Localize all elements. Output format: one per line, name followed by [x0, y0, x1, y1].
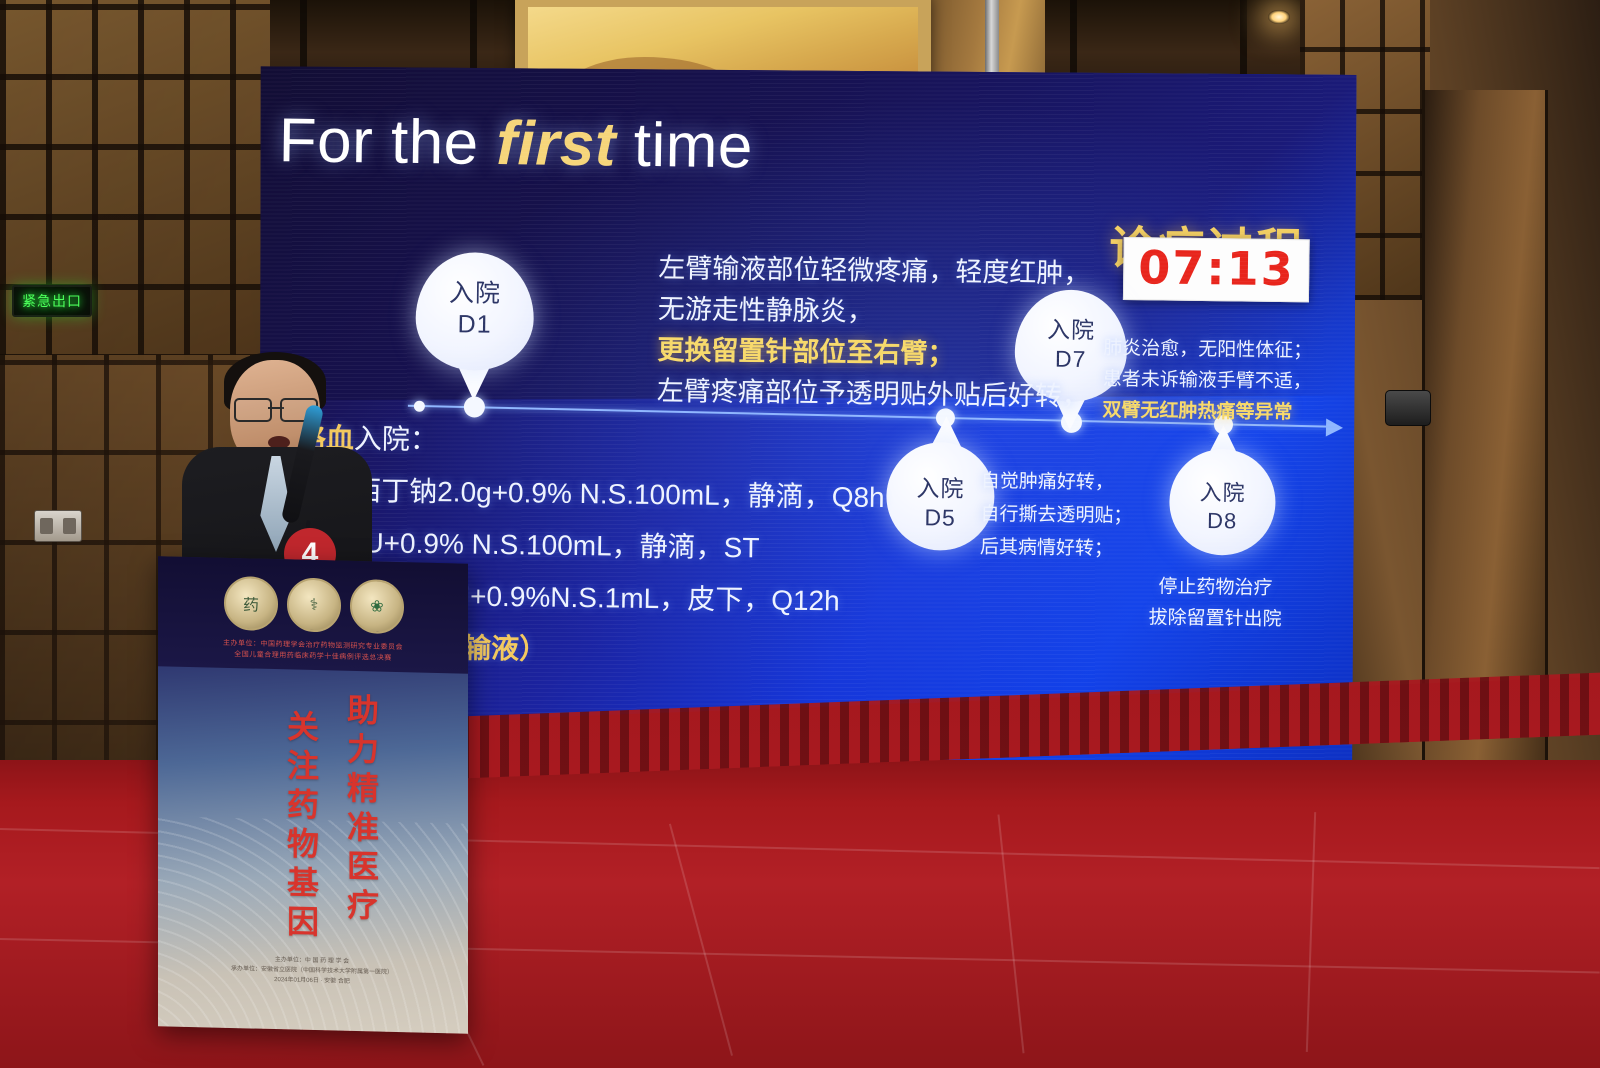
exit-sign-label: 紧急出口: [22, 291, 82, 311]
slide-title: For the first time: [278, 105, 753, 182]
pin-label: 入院 D8: [1169, 479, 1276, 536]
organizer-emblems: 药 ⚕ ❀: [224, 576, 404, 632]
text-line: 拔除留置针出院: [1148, 602, 1281, 635]
timeline-pin-d1: 入院 D1: [415, 252, 535, 404]
pin-name: 入院: [1169, 479, 1275, 508]
text-block-d1: 左臂输液部位轻微疼痛，轻度红肿， 无游走性静脉炎， 更换留置针部位至右臂； 左臂…: [657, 248, 1091, 418]
podium-slogan-right: 助力精准医疗: [336, 693, 384, 928]
emblem-icon: ⚕: [287, 577, 341, 632]
light-switch-plate[interactable]: [34, 510, 82, 542]
text-line: 左臂疼痛部位予透明贴外贴后好转，: [657, 371, 1089, 418]
emergency-exit-sign: 紧急出口: [12, 285, 92, 317]
pin-day: D5: [886, 503, 994, 533]
title-suffix: time: [616, 111, 754, 182]
text-line: 后其病情好转；: [980, 531, 1132, 566]
conference-photo-scene: 紧急出口 ← 出口 For the first time 诊疗过程 07:13 …: [0, 0, 1600, 1068]
podium-slogan-left: 关注药物基因: [276, 709, 324, 944]
lectern-podium: 药 ⚕ ❀ 主办单位：中国药理学会治疗药物监测研究专业委员会 全国儿童合理用药临…: [158, 556, 468, 1034]
title-highlight: first: [496, 109, 617, 180]
text-line: 左臂输液部位轻微疼痛，轻度红肿，: [658, 248, 1090, 295]
emblem-icon: 药: [224, 576, 278, 631]
timeline-arrow-icon: [1326, 419, 1343, 437]
timeline-start-dot: [414, 401, 425, 412]
countdown-timer: 07:13: [1122, 237, 1309, 302]
timeline-pin-d8: 入院 D8: [1169, 449, 1277, 570]
text-line: 停止药物治疗: [1149, 571, 1282, 604]
wall-sensor-box: [1385, 390, 1431, 426]
ceiling-downlight: [1268, 10, 1290, 24]
text-block-d5: 自觉肿痛好转， 自行撕去透明贴； 后其病情好转；: [980, 465, 1133, 566]
pin-label: 入院 D1: [415, 278, 534, 342]
podium-footer-text: 主办单位：中 国 药 理 学 会 承办单位：安徽省立医院（中国科学技术大学附属第…: [192, 953, 432, 989]
emblem-icon: ❀: [350, 579, 404, 634]
pin-day: D1: [415, 309, 533, 342]
pin-name: 入院: [416, 278, 534, 311]
text-line: 自觉肿痛好转，: [981, 465, 1133, 500]
text-line: 肺炎治愈，无阳性体征；: [1103, 333, 1312, 367]
text-block-d8: 停止药物治疗 拔除留置针出院: [1148, 571, 1282, 635]
text-line: 无游走性静脉炎，: [658, 289, 1090, 336]
text-block-d7: 肺炎治愈，无阳性体征； 患者未诉输液手臂不适， 双臂无红肿热痛等异常: [1102, 333, 1312, 429]
pin-name: 入院: [886, 474, 994, 504]
timeline-pin-d5: 入院 D5: [886, 442, 996, 563]
pin-day: D8: [1169, 506, 1275, 535]
text-line-emphasis: 双臂无红肿热痛等异常: [1102, 395, 1311, 429]
pin-label: 入院 D5: [886, 474, 995, 533]
text-line-emphasis: 更换留置针部位至右臂；: [657, 330, 1089, 377]
text-line: 患者未诉输液手臂不适，: [1103, 364, 1312, 398]
title-prefix: For the: [278, 106, 497, 178]
text-line: 自行撕去透明贴；: [980, 498, 1132, 533]
